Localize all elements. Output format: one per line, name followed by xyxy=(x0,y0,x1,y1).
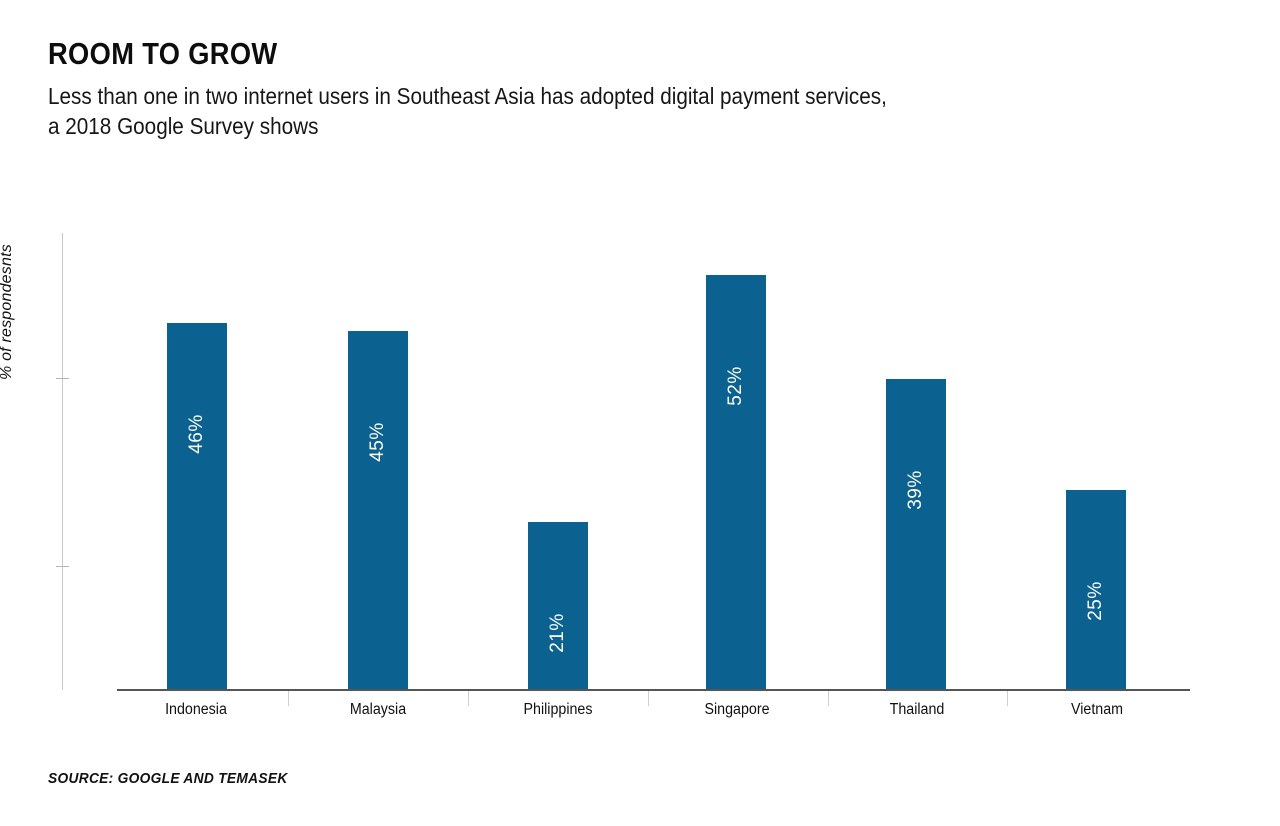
bar-value-label-vietnam: 25% xyxy=(1085,581,1107,621)
bar-value-label-malaysia: 45% xyxy=(367,422,389,462)
y-axis-title: % of respondesnts xyxy=(0,180,16,380)
bar-vietnam[interactable]: 25% xyxy=(1066,490,1126,689)
y-axis-line xyxy=(62,233,63,690)
bar-malaysia[interactable]: 45% xyxy=(348,331,408,689)
y-axis-tick-1 xyxy=(56,566,69,567)
bar-chart-plot: % of respondesnts 46%45%21%52%39%25% Ind… xyxy=(0,0,1280,826)
x-axis-label-singapore: Singapore xyxy=(645,701,829,719)
bar-indonesia[interactable]: 46% xyxy=(167,323,227,689)
x-axis-label-vietnam: Vietnam xyxy=(1005,701,1189,719)
source-note: SOURCE: GOOGLE AND TEMASEK xyxy=(48,771,288,787)
bar-value-label-philippines: 21% xyxy=(547,613,569,653)
bar-singapore[interactable]: 52% xyxy=(706,275,766,689)
x-axis-label-malaysia: Malaysia xyxy=(286,701,470,719)
bar-value-label-indonesia: 46% xyxy=(186,414,208,454)
bar-philippines[interactable]: 21% xyxy=(528,522,588,689)
bar-value-label-thailand: 39% xyxy=(905,470,927,510)
x-axis-label-indonesia: Indonesia xyxy=(104,701,288,719)
y-axis-tick-0 xyxy=(56,378,69,379)
bar-thailand[interactable]: 39% xyxy=(886,379,946,689)
x-axis-label-thailand: Thailand xyxy=(825,701,1009,719)
x-axis-line xyxy=(117,689,1190,691)
bar-value-label-singapore: 52% xyxy=(725,366,747,406)
x-axis-label-philippines: Philippines xyxy=(466,701,650,719)
